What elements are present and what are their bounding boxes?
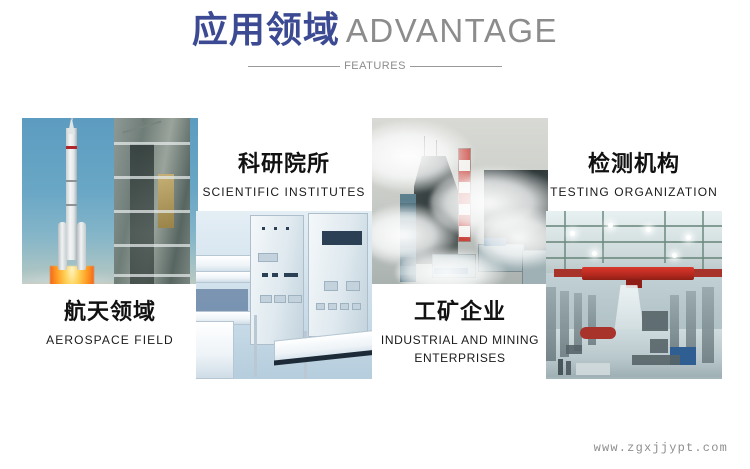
- lab-rack1-button-c: [288, 295, 302, 303]
- lab-rack1-panel-a: [258, 253, 278, 262]
- lab-rack2-meter-b: [346, 281, 360, 291]
- tower-gold-panel: [158, 174, 174, 228]
- caption-english: TESTING ORGANIZATION: [546, 183, 722, 202]
- page-title-chinese: 应用领域: [192, 9, 340, 50]
- equipment-rack-5: [670, 295, 679, 349]
- lab-rack1-button-a: [260, 295, 272, 303]
- tower-mast: [142, 118, 144, 122]
- machine-left-small: [566, 345, 582, 354]
- lab-rack2-switch-c: [340, 303, 349, 310]
- equipment-rack-7: [702, 287, 714, 363]
- caption-english: INDUSTRIAL AND MINING ENTERPRISES: [372, 331, 548, 368]
- lab-rack1-led-b: [274, 227, 277, 230]
- page-header: 应用领域ADVANTAGE FEATURES: [0, 0, 750, 92]
- lab-shelf-left-2: [196, 271, 252, 283]
- lab-rack2-breaker-strip: [322, 231, 362, 245]
- red-workpiece: [580, 327, 616, 339]
- caption-english: SCIENTIFIC INSTITUTES: [196, 183, 372, 202]
- worker-figure-1: [558, 359, 563, 375]
- tower-beam-3: [114, 210, 190, 213]
- feature-column-industrial-mining: 工矿企业 INDUSTRIAL AND MINING ENTERPRISES: [372, 118, 548, 368]
- roof-post-3: [664, 211, 666, 263]
- equipment-rack-1: [546, 287, 556, 361]
- roof-truss-2: [546, 241, 722, 243]
- factory-interior-photo: [546, 211, 722, 379]
- lab-rack2-switch-a: [316, 303, 325, 310]
- roof-post-1: [564, 211, 566, 269]
- wall-crane-rail-right: [694, 269, 722, 277]
- lab-rack1-slot-b: [272, 273, 278, 277]
- roof-truss-1: [546, 225, 722, 227]
- lab-rack1-button-b: [274, 295, 286, 303]
- lab-rack1-slot-a: [262, 273, 268, 277]
- caption-chinese: 检测机构: [546, 150, 722, 178]
- feature-column-testing-organization: 检测机构 TESTING ORGANIZATION: [546, 150, 722, 379]
- subtitle-label: FEATURES: [340, 60, 410, 72]
- rocket-launch-photo: [22, 118, 198, 284]
- rule-line-left: [248, 66, 340, 67]
- rocket-red-band: [66, 146, 77, 149]
- lab-rack2-switch-b: [328, 303, 337, 310]
- lab-rack1-led-a: [262, 227, 265, 230]
- tower-beam-5: [114, 274, 190, 277]
- roof-truss-3: [546, 257, 722, 259]
- lab-rack2-switch-d: [352, 303, 361, 310]
- caption-chinese: 航天领域: [22, 298, 198, 326]
- page-title-english: ADVANTAGE: [346, 12, 558, 49]
- caption-chinese: 工矿企业: [372, 298, 548, 326]
- tower-beam-2: [114, 176, 190, 179]
- tower-beam-1: [114, 142, 190, 145]
- tower-beam-4: [114, 244, 190, 247]
- machine-bed: [632, 355, 680, 365]
- website-watermark: www.zgxjjypt.com: [594, 441, 728, 455]
- caption-aerospace: 航天领域 AEROSPACE FIELD: [22, 284, 198, 349]
- equipment-rack-3: [574, 293, 582, 351]
- laboratory-instruments-photo: [196, 211, 372, 379]
- caption-scientific-institutes: 科研院所 SCIENTIFIC INSTITUTES: [196, 150, 372, 211]
- rocket-booster-right: [77, 222, 86, 270]
- caption-chinese: 科研院所: [196, 150, 372, 178]
- caption-testing-organization: 检测机构 TESTING ORGANIZATION: [546, 150, 722, 211]
- rocket-gray-band-2: [66, 204, 77, 206]
- page-title: 应用领域ADVANTAGE: [0, 12, 750, 48]
- lab-rack1-slot-c: [284, 273, 298, 277]
- lab-cabinet-front: [196, 321, 234, 379]
- rule-line-right: [410, 66, 502, 67]
- equipment-rack-6: [686, 291, 696, 355]
- rocket-gray-band: [66, 180, 77, 182]
- roof-post-2: [602, 211, 604, 263]
- rocket-flame: [50, 266, 94, 284]
- tower-shadow-face: [130, 144, 154, 284]
- worker-figure-2: [566, 361, 571, 375]
- subtitle-rule: FEATURES: [0, 60, 750, 72]
- industrial-smokestacks-photo: [372, 118, 548, 284]
- machine-center: [642, 311, 668, 331]
- caption-english: AEROSPACE FIELD: [22, 331, 198, 350]
- wall-crane-rail-left: [554, 269, 582, 277]
- lab-rack2-meter-a: [324, 281, 338, 291]
- lab-instrument-rack-1: [250, 215, 304, 345]
- lab-rack-support: [254, 315, 257, 377]
- steel-plate: [576, 363, 610, 375]
- lab-rack1-led-c: [286, 227, 289, 230]
- rocket-escape-tower: [71, 118, 73, 120]
- machine-center-2: [650, 339, 668, 353]
- feature-column-aerospace: 航天领域 AEROSPACE FIELD: [22, 118, 198, 349]
- roof-post-4: [702, 211, 704, 269]
- caption-industrial-mining: 工矿企业 INDUSTRIAL AND MINING ENTERPRISES: [372, 284, 548, 368]
- feature-column-scientific-institutes: 科研院所 SCIENTIFIC INSTITUTES: [196, 150, 372, 379]
